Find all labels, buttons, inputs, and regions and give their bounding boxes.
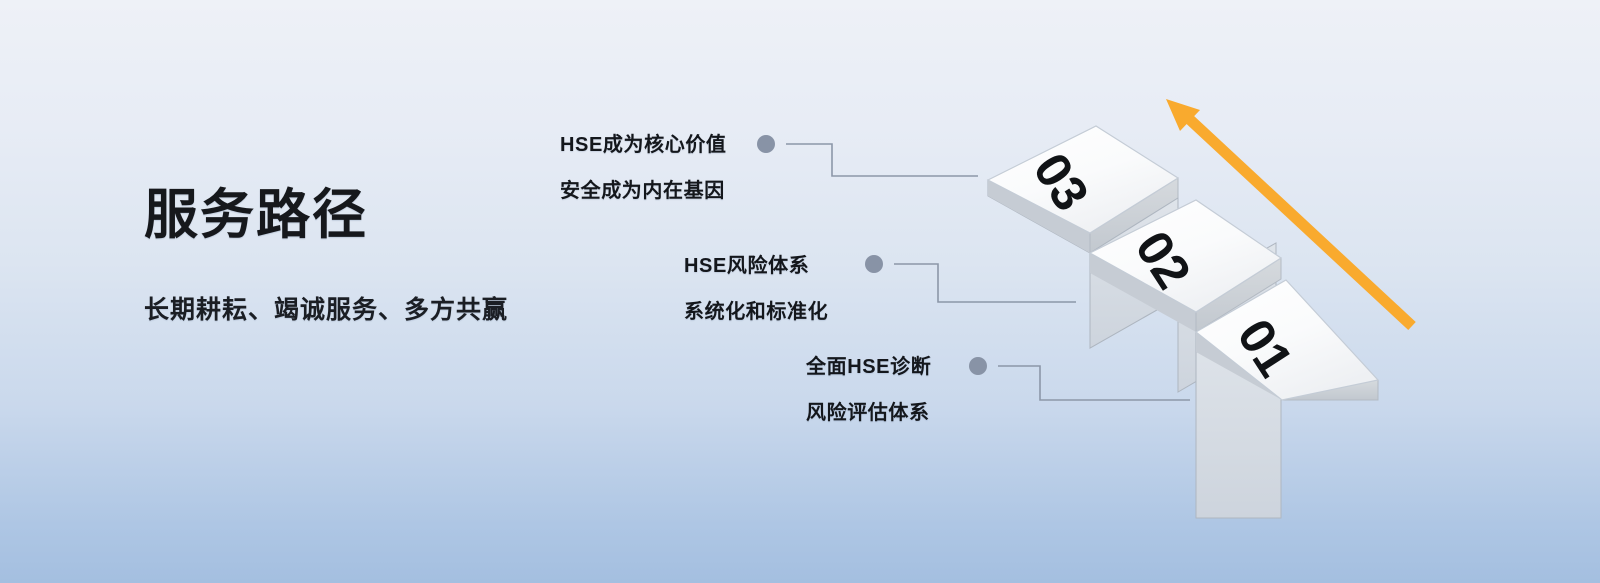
connector-dot-step-03 (757, 135, 775, 153)
connector-line-step-03 (757, 135, 978, 176)
slide-canvas: 03 02 01 (0, 0, 1600, 583)
connector-dot-step-02 (865, 255, 883, 273)
callout-step-03-line-1: HSE成为核心价值 (560, 135, 727, 155)
callout-step-03-line-2: 安全成为内在基因 (560, 181, 727, 201)
page-subtitle: 长期耕耘、竭诚服务、多方共赢 (144, 290, 508, 326)
page-title: 服务路径 (144, 184, 508, 246)
callout-step-02-line-1: HSE风险体系 (684, 256, 828, 276)
connector-dot-step-01 (969, 357, 987, 375)
heading-group: 服务路径 长期耕耘、竭诚服务、多方共赢 (144, 184, 508, 326)
step-block-01: 01 (1196, 280, 1378, 518)
callout-step-01-line-2: 风险评估体系 (806, 403, 931, 423)
callout-step-01: 全面HSE诊断 风险评估体系 (806, 357, 931, 423)
callout-step-03: HSE成为核心价值 安全成为内在基因 (560, 135, 727, 201)
callout-step-01-line-1: 全面HSE诊断 (806, 357, 931, 377)
connector-line-step-02 (865, 255, 1076, 302)
connector-line-step-01 (969, 357, 1190, 400)
callout-step-02: HSE风险体系 系统化和标准化 (684, 256, 828, 322)
callout-step-02-line-2: 系统化和标准化 (684, 302, 828, 322)
